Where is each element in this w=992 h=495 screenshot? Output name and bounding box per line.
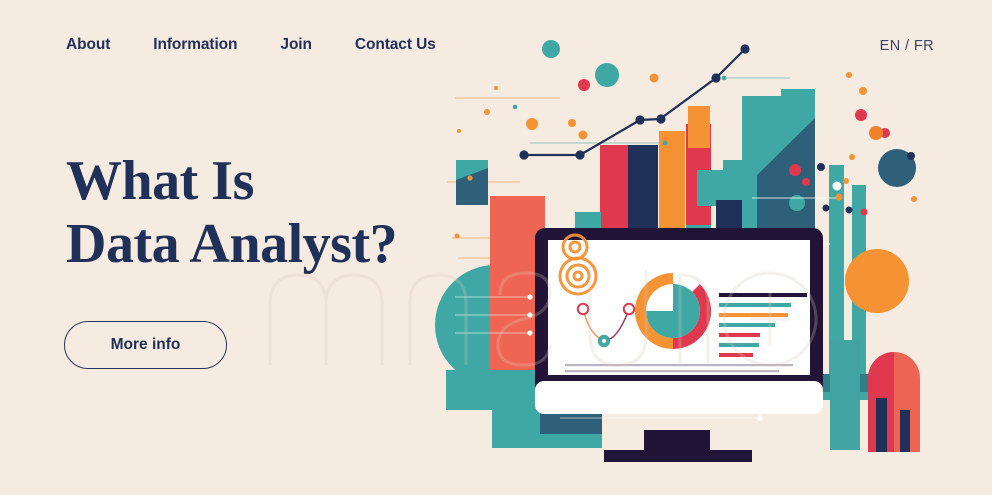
nav-item-contact-us[interactable]: Contact Us bbox=[355, 36, 436, 54]
main-navigation: About Information Join Contact Us bbox=[66, 36, 479, 54]
hero-banner: About Information Join Contact Us EN / F… bbox=[0, 0, 992, 495]
nav-item-information[interactable]: Information bbox=[153, 36, 237, 54]
nav-item-about[interactable]: About bbox=[66, 36, 110, 54]
page-title-line-1: What Is bbox=[66, 150, 397, 213]
page-title: What Is Data Analyst? bbox=[66, 150, 397, 275]
language-selector[interactable]: EN / FR bbox=[880, 38, 934, 54]
more-info-button[interactable]: More info bbox=[64, 321, 227, 369]
nav-item-join[interactable]: Join bbox=[280, 36, 311, 54]
page-title-line-2: Data Analyst? bbox=[66, 213, 397, 276]
